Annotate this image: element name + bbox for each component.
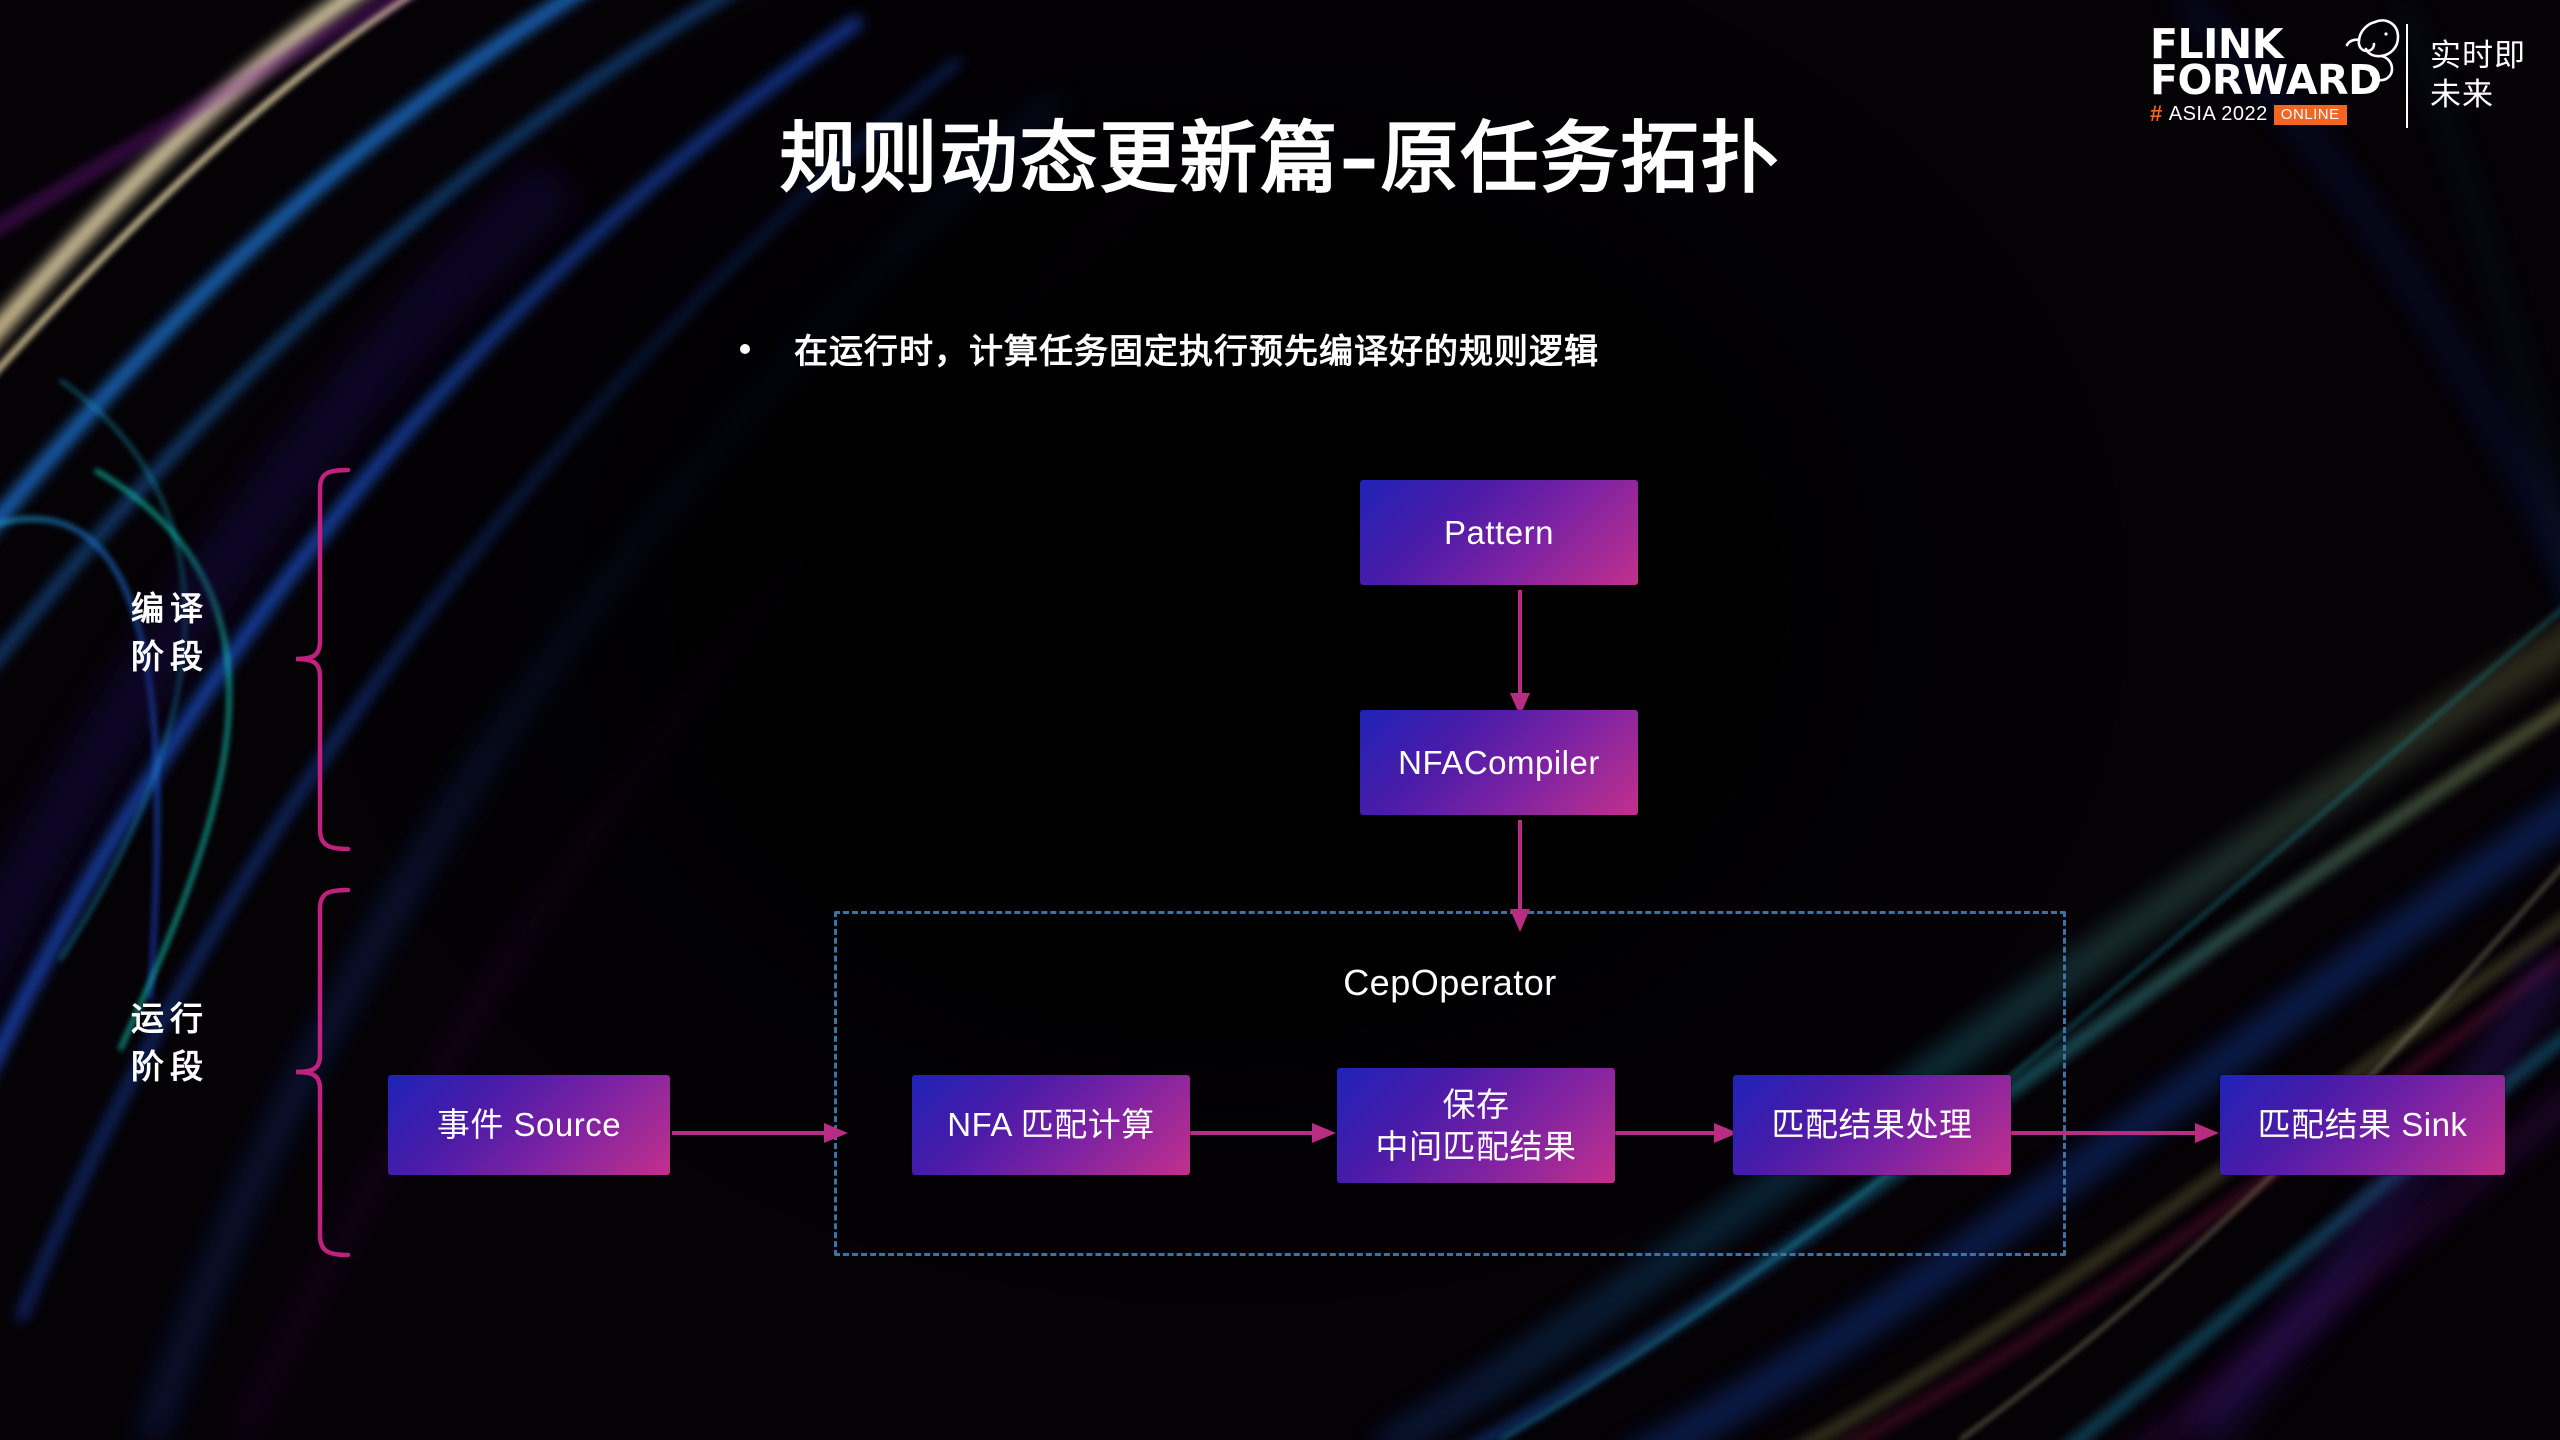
bullet-text: 在运行时，计算任务固定执行预先编译好的规则逻辑 [794, 324, 1599, 373]
logo-tagline-line1: 实时即 [2430, 37, 2526, 76]
phase-compile-line2: 阶段 [70, 633, 270, 681]
node-pattern[interactable]: Pattern [1360, 480, 1638, 585]
bracket-compile-phase [290, 465, 360, 855]
node-nfa-match[interactable]: NFA 匹配计算 [912, 1075, 1190, 1175]
node-result-process[interactable]: 匹配结果处理 [1733, 1075, 2011, 1175]
squirrel-icon [2334, 15, 2408, 89]
phase-label-runtime: 运行 阶段 [70, 995, 270, 1091]
page-title: 规则动态更新篇–原任务拓扑 [0, 96, 2560, 208]
arrow-pattern-to-nfacompiler [1490, 590, 1550, 720]
node-save-partial-line1: 保存 [1443, 1084, 1510, 1125]
node-nfacompiler-label: NFACompiler [1398, 742, 1600, 783]
node-pattern-label: Pattern [1444, 512, 1554, 553]
arrow-source-to-nfa [672, 1113, 852, 1153]
node-nfa-match-label: NFA 匹配计算 [947, 1104, 1155, 1145]
bullet-item: 在运行时，计算任务固定执行预先编译好的规则逻辑 [740, 324, 1599, 373]
node-event-source[interactable]: 事件 Source [388, 1075, 670, 1175]
node-result-sink[interactable]: 匹配结果 Sink [2220, 1075, 2505, 1175]
phase-runtime-line1: 运行 [70, 995, 270, 1043]
node-nfacompiler[interactable]: NFACompiler [1360, 710, 1638, 815]
node-result-process-label: 匹配结果处理 [1772, 1104, 1973, 1145]
phase-compile-line1: 编译 [70, 585, 270, 633]
node-save-partial-result[interactable]: 保存 中间匹配结果 [1337, 1068, 1615, 1183]
bracket-runtime-phase [290, 885, 360, 1260]
node-event-source-label: 事件 Source [437, 1104, 621, 1145]
cep-operator-label: CepOperator [834, 962, 2066, 1004]
node-result-sink-label: 匹配结果 Sink [2258, 1104, 2468, 1145]
phase-label-compile: 编译 阶段 [70, 585, 270, 681]
slide-canvas: FLINK FORWARD # ASIA 2022 ONLINE 实时即 [0, 0, 2560, 1440]
node-save-partial-line2: 中间匹配结果 [1376, 1126, 1577, 1167]
phase-runtime-line2: 阶段 [70, 1043, 270, 1091]
bullet-dot-icon [740, 344, 750, 354]
